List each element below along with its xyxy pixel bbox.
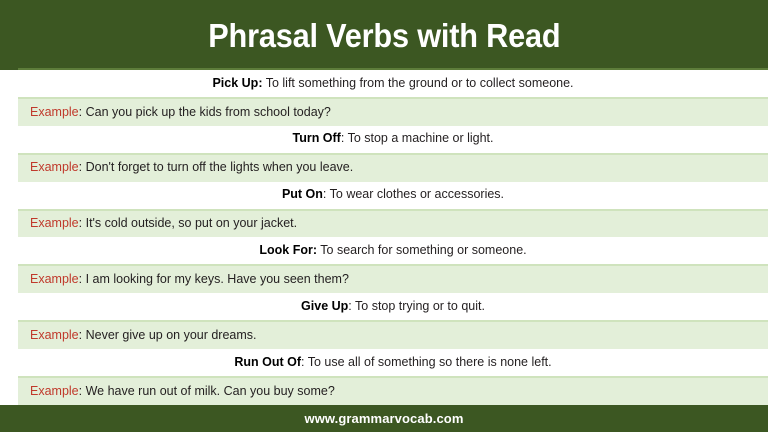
example-sentence: Don't forget to turn off the lights when… bbox=[86, 160, 354, 174]
example-label: Example bbox=[30, 216, 79, 230]
definition-row: Pick Up: To lift something from the grou… bbox=[0, 70, 768, 97]
example-text: Example: Can you pick up the kids from s… bbox=[30, 105, 331, 121]
phrasal-verb-term: Pick Up: bbox=[212, 76, 262, 90]
example-separator: : bbox=[79, 160, 86, 174]
example-label: Example bbox=[30, 328, 79, 342]
definition-row: Look For: To search for something or som… bbox=[0, 237, 768, 264]
example-text: Example: Never give up on your dreams. bbox=[30, 328, 257, 344]
example-text: Example: I am looking for my keys. Have … bbox=[30, 272, 349, 288]
definition-row: Turn Off: To stop a machine or light. bbox=[0, 126, 768, 153]
entry-item: Turn Off: To stop a machine or light. Ex… bbox=[0, 126, 768, 182]
page-title: Phrasal Verbs with Read bbox=[208, 19, 560, 52]
example-row: Example: We have run out of milk. Can yo… bbox=[18, 376, 768, 405]
phrasal-verb-term: Look For: bbox=[259, 243, 317, 257]
definition-text: Put On: To wear clothes or accessories. bbox=[282, 187, 504, 203]
footer-banner: www.grammarvocab.com bbox=[0, 405, 768, 432]
example-label: Example bbox=[30, 272, 79, 286]
definition-row: Give Up: To stop trying or to quit. bbox=[0, 293, 768, 320]
example-text: Example: Don't forget to turn off the li… bbox=[30, 160, 353, 176]
example-separator: : bbox=[79, 216, 86, 230]
definition-body: : To use all of something so there is no… bbox=[301, 355, 552, 369]
example-row: Example: I am looking for my keys. Have … bbox=[18, 264, 768, 293]
definition-text: Turn Off: To stop a machine or light. bbox=[292, 131, 493, 147]
example-sentence: It's cold outside, so put on your jacket… bbox=[86, 216, 298, 230]
definition-text: Run Out Of: To use all of something so t… bbox=[234, 355, 551, 371]
definition-text: Look For: To search for something or som… bbox=[259, 243, 526, 259]
definition-row: Put On: To wear clothes or accessories. bbox=[0, 182, 768, 209]
example-separator: : bbox=[79, 105, 86, 119]
example-label: Example bbox=[30, 384, 79, 398]
example-sentence: Never give up on your dreams. bbox=[86, 328, 257, 342]
definition-row: Run Out Of: To use all of something so t… bbox=[0, 349, 768, 376]
example-label: Example bbox=[30, 160, 79, 174]
example-row: Example: It's cold outside, so put on yo… bbox=[18, 209, 768, 238]
example-label: Example bbox=[30, 105, 79, 119]
entry-item: Put On: To wear clothes or accessories. … bbox=[0, 182, 768, 238]
header-underline bbox=[18, 68, 768, 70]
example-separator: : bbox=[79, 328, 86, 342]
entry-item: Run Out Of: To use all of something so t… bbox=[0, 349, 768, 405]
definition-body: : To stop trying or to quit. bbox=[348, 299, 485, 313]
example-row: Example: Don't forget to turn off the li… bbox=[18, 153, 768, 182]
entry-item: Give Up: To stop trying or to quit. Exam… bbox=[0, 293, 768, 349]
phrasal-verb-term: Run Out Of bbox=[234, 355, 301, 369]
definition-body: To search for something or someone. bbox=[317, 243, 527, 257]
definition-text: Pick Up: To lift something from the grou… bbox=[212, 76, 573, 92]
phrasal-verb-term: Turn Off bbox=[292, 131, 340, 145]
definition-body: : To stop a machine or light. bbox=[341, 131, 494, 145]
example-sentence: We have run out of milk. Can you buy som… bbox=[86, 384, 335, 398]
example-sentence: I am looking for my keys. Have you seen … bbox=[86, 272, 349, 286]
definition-body: To lift something from the ground or to … bbox=[262, 76, 573, 90]
definition-text: Give Up: To stop trying or to quit. bbox=[301, 299, 485, 315]
phrasal-verb-term: Give Up bbox=[301, 299, 348, 313]
example-sentence: Can you pick up the kids from school tod… bbox=[86, 105, 331, 119]
entries-list: Pick Up: To lift something from the grou… bbox=[0, 70, 768, 405]
example-text: Example: It's cold outside, so put on yo… bbox=[30, 216, 297, 232]
entry-item: Pick Up: To lift something from the grou… bbox=[0, 70, 768, 126]
example-row: Example: Never give up on your dreams. bbox=[18, 320, 768, 349]
entry-item: Look For: To search for something or som… bbox=[0, 237, 768, 293]
website-url: www.grammarvocab.com bbox=[304, 411, 463, 426]
example-separator: : bbox=[79, 272, 86, 286]
definition-body: : To wear clothes or accessories. bbox=[323, 187, 504, 201]
header-banner: Phrasal Verbs with Read bbox=[0, 0, 768, 70]
example-text: Example: We have run out of milk. Can yo… bbox=[30, 384, 335, 400]
example-row: Example: Can you pick up the kids from s… bbox=[18, 97, 768, 126]
phrasal-verbs-infographic: Phrasal Verbs with Read Pick Up: To lift… bbox=[0, 0, 768, 432]
phrasal-verb-term: Put On bbox=[282, 187, 323, 201]
example-separator: : bbox=[79, 384, 86, 398]
